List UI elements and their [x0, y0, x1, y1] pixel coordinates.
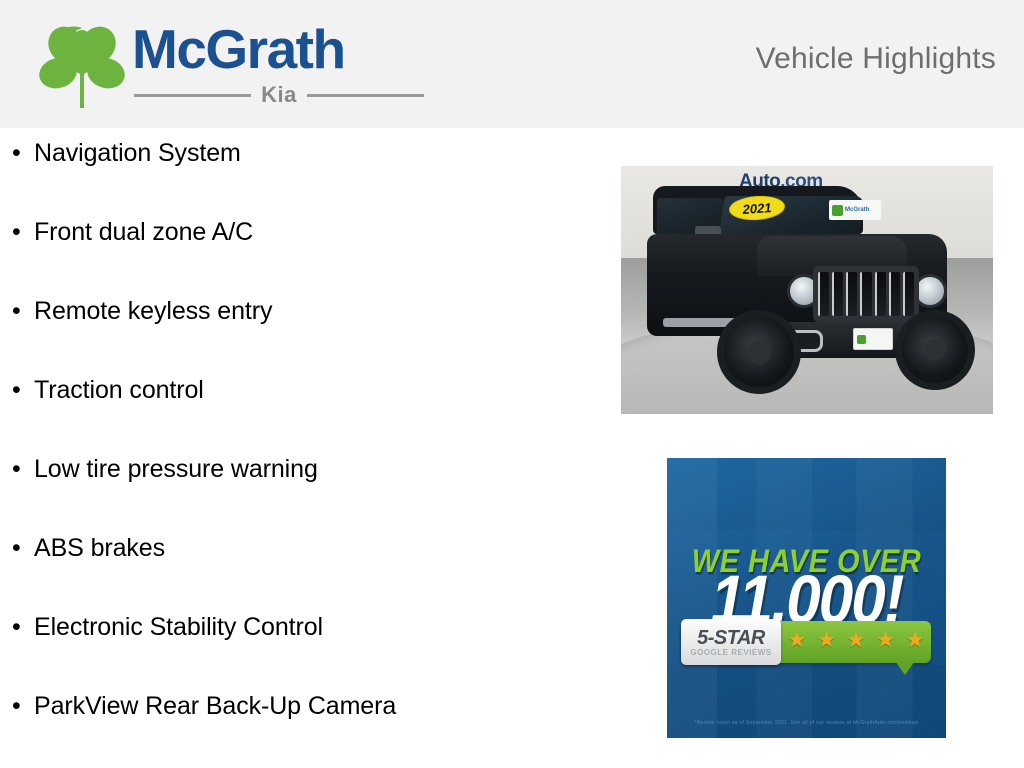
logo-wordmark: McGrath Kia	[132, 18, 432, 113]
bullet-icon: •	[10, 378, 34, 403]
list-item: • ABS brakes	[10, 535, 570, 614]
page-title: Vehicle Highlights	[756, 42, 996, 76]
grille-slot	[860, 272, 871, 316]
windshield-dealer-badge: McGrath	[829, 200, 881, 220]
brand-name: McGrath	[132, 20, 345, 78]
list-item: • Traction control	[10, 377, 570, 456]
highlight-label: Front dual zone A/C	[34, 219, 253, 246]
wheel-hub	[747, 340, 771, 364]
dealer-logo[interactable]: McGrath Kia	[32, 18, 432, 113]
bullet-icon: •	[10, 141, 34, 166]
dealer-license-plate	[853, 328, 893, 350]
list-item: • Low tire pressure warning	[10, 456, 570, 535]
bullet-icon: •	[10, 457, 34, 482]
jeep-wrangler-illustration: 2021 McGrath	[637, 182, 967, 397]
clover-icon	[36, 22, 128, 110]
grille-slot	[889, 272, 900, 316]
kia-rule-left	[134, 94, 251, 97]
rating-bar: 5-STAR GOOGLE REVIEWS ★ ★ ★ ★ ★	[681, 621, 931, 663]
five-star-badge: 5-STAR GOOGLE REVIEWS	[681, 619, 781, 665]
grille-slot	[903, 272, 914, 316]
highlight-label: Electronic Stability Control	[34, 614, 323, 641]
grille-slot	[832, 272, 843, 316]
brand-subname-row: Kia	[134, 80, 424, 110]
banner-fineprint: *Review count as of September 2021. See …	[667, 720, 946, 726]
list-item: • ParkView Rear Back-Up Camera	[10, 693, 570, 768]
bullet-icon: •	[10, 299, 34, 324]
star-icon: ★	[846, 628, 866, 652]
highlight-label: Navigation System	[34, 140, 241, 167]
grille-slot	[875, 272, 886, 316]
jeep-rear-wheel	[895, 310, 975, 390]
grille-slot	[846, 272, 857, 316]
bullet-icon: •	[10, 536, 34, 561]
bullet-icon: •	[10, 694, 34, 719]
highlight-label: Traction control	[34, 377, 204, 404]
list-item: • Front dual zone A/C	[10, 219, 570, 298]
list-item: • Navigation System	[10, 140, 570, 219]
brand-subname: Kia	[261, 84, 297, 106]
google-reviews-label: GOOGLE REVIEWS	[690, 648, 771, 657]
bullet-icon: •	[10, 220, 34, 245]
bullet-icon: •	[10, 615, 34, 640]
star-rating-row: ★ ★ ★ ★ ★	[787, 628, 925, 652]
highlight-label: Low tire pressure warning	[34, 456, 318, 483]
star-icon: ★	[876, 628, 896, 652]
list-item: • Electronic Stability Control	[10, 614, 570, 693]
windshield-badge-label: McGrath	[845, 207, 869, 213]
star-icon: ★	[817, 628, 837, 652]
vehicle-highlights-slide: McGrath Kia Vehicle Highlights • Navigat…	[0, 0, 1024, 768]
vehicle-photo[interactable]: Auto.com 2021 McGrath	[621, 166, 993, 414]
highlight-label: Remote keyless entry	[34, 298, 272, 325]
speech-bubble-tail	[895, 661, 915, 675]
highlight-label: ParkView Rear Back-Up Camera	[34, 693, 396, 720]
kia-rule-right	[307, 94, 424, 97]
list-item: • Remote keyless entry	[10, 298, 570, 377]
check-icon	[832, 205, 843, 216]
five-star-label: 5-STAR	[697, 628, 765, 648]
highlights-list: • Navigation System • Front dual zone A/…	[10, 140, 570, 768]
plate-logo-icon	[857, 335, 866, 344]
jeep-seven-slot-grille	[813, 266, 919, 322]
google-reviews-banner[interactable]: WE HAVE OVER 11,000! 5-STAR GOOGLE REVIE…	[667, 458, 946, 738]
star-icon: ★	[905, 628, 925, 652]
star-icon: ★	[787, 628, 807, 652]
highlight-label: ABS brakes	[34, 535, 165, 562]
slide-header: McGrath Kia Vehicle Highlights	[0, 0, 1024, 128]
wheel-hub	[924, 339, 946, 361]
jeep-front-wheel	[717, 310, 801, 394]
grille-slot	[818, 272, 829, 316]
